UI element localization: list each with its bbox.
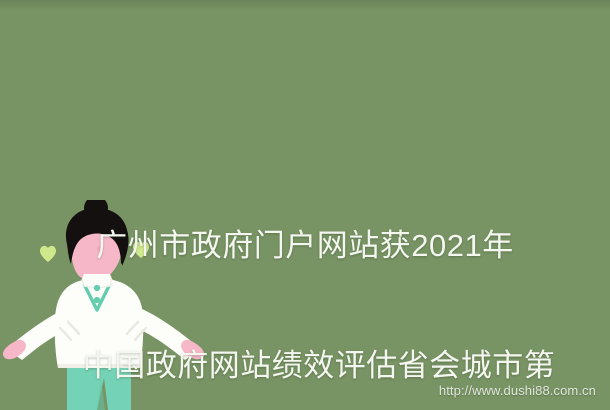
source-url-watermark: http://www.dushi88.com.cn [439, 383, 596, 398]
top-shade-band [0, 0, 610, 10]
cover-headline: 广州市政府门户网站获2021年 中国政府网站绩效评估省会城市第 [0, 146, 610, 410]
article-cover-card: 广州市政府门户网站获2021年 中国政府网站绩效评估省会城市第 http://w… [0, 0, 610, 410]
headline-line-1: 广州市政府门户网站获2021年 [0, 226, 610, 266]
headline-line-2: 中国政府网站绩效评估省会城市第 [28, 346, 610, 386]
